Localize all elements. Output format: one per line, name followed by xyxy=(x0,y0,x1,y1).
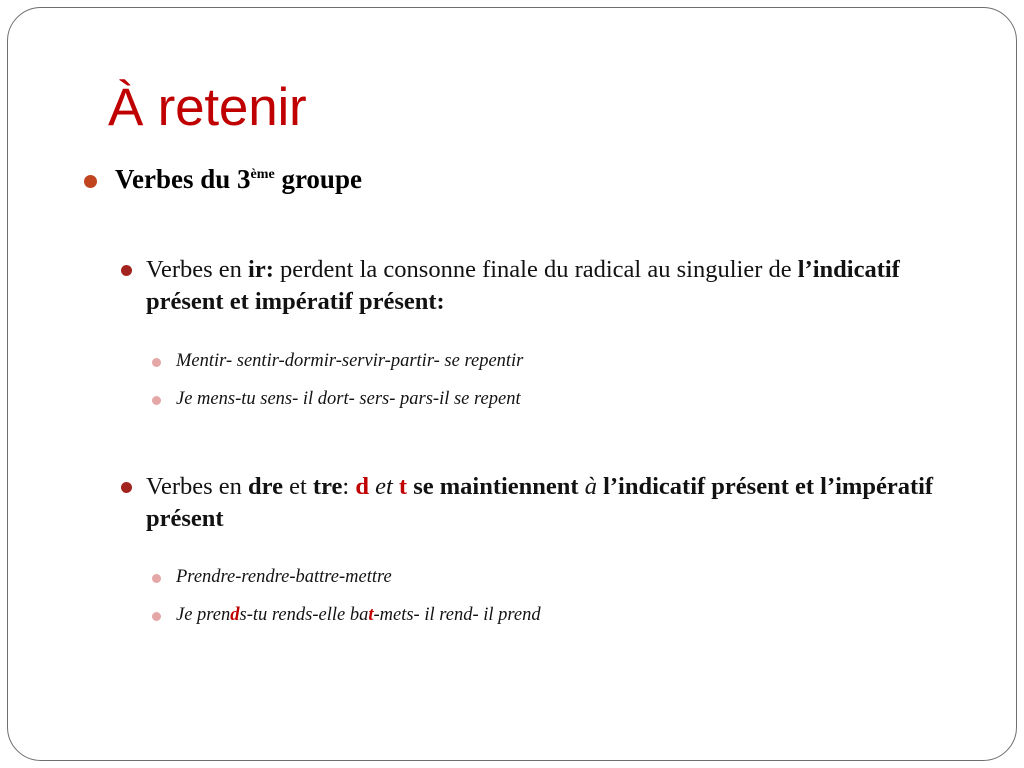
dretre-red-letter-d: d xyxy=(355,473,369,500)
spacer xyxy=(0,319,1024,349)
dretre-part4: et xyxy=(369,473,399,500)
heading-text-after: groupe xyxy=(275,164,362,194)
dretre-keyword-dre: dre xyxy=(248,473,283,500)
bullet-text-verbes-en-ir: Verbes en ir: perdent la consonne finale… xyxy=(146,254,950,319)
spacer xyxy=(0,535,1024,565)
spacer xyxy=(0,196,1024,254)
bullet-text-level1: Verbes du 3ème groupe xyxy=(115,163,964,196)
bullet-marker-level3 xyxy=(152,396,161,405)
bullet-item-verbes-3eme-groupe: Verbes du 3ème groupe xyxy=(0,163,1024,196)
bullet-marker-level2 xyxy=(121,265,132,276)
plain-run: -mets- il rend- il prend xyxy=(373,605,540,625)
dretre-part3: : xyxy=(342,473,355,500)
ir-text-part2: perdent la consonne finale du radical au… xyxy=(274,256,798,283)
heading-text-before: Verbes du 3 xyxy=(115,164,251,194)
bullet-marker-level3 xyxy=(152,574,161,583)
ir-keyword: ir: xyxy=(248,256,274,283)
dretre-part2: et xyxy=(283,473,313,500)
bullet-item-verbes-en-ir: Verbes en ir: perdent la consonne finale… xyxy=(0,254,1024,319)
dretre-italic-a: à xyxy=(585,473,597,500)
highlighted-letter: d xyxy=(230,605,239,625)
example-text-dretre-conjugated: Je prends-tu rends-elle bat-mets- il ren… xyxy=(176,603,944,627)
bullet-text-verbes-en-dre-tre: Verbes en dre et tre: d et t se maintien… xyxy=(146,471,950,536)
plain-run: s-tu rends-elle ba xyxy=(240,605,369,625)
spacer xyxy=(0,441,1024,471)
spacer xyxy=(0,589,1024,603)
dretre-red-letter-t: t xyxy=(399,473,407,500)
heading-superscript: ème xyxy=(251,166,275,182)
bullet-marker-level3 xyxy=(152,612,161,621)
example-text-ir-conjugated: Je mens-tu sens- il dort- sers- pars-il … xyxy=(176,387,944,411)
slide-body: Verbes du 3ème groupe Verbes en ir: perd… xyxy=(0,163,1024,627)
spacer xyxy=(0,373,1024,387)
dretre-keyword-tre: tre xyxy=(313,473,342,500)
dretre-part1: Verbes en xyxy=(146,473,248,500)
example-text-dretre-infinitives: Prendre-rendre-battre-mettre xyxy=(176,565,944,589)
bullet-marker-level2 xyxy=(121,482,132,493)
bullet-marker-level1 xyxy=(84,175,97,188)
dretre-part5: se maintiennent xyxy=(407,473,585,500)
example-item-dretre-infinitives: Prendre-rendre-battre-mettre xyxy=(0,565,1024,589)
example-item-ir-infinitives: Mentir- sentir-dormir-servir-partir- se … xyxy=(0,349,1024,373)
spacer xyxy=(0,411,1024,441)
ir-text-part1: Verbes en xyxy=(146,256,248,283)
example-item-ir-conjugated: Je mens-tu sens- il dort- sers- pars-il … xyxy=(0,387,1024,411)
example-item-dretre-conjugated: Je prends-tu rends-elle bat-mets- il ren… xyxy=(0,603,1024,627)
example-text-ir-infinitives: Mentir- sentir-dormir-servir-partir- se … xyxy=(176,349,944,373)
slide: À retenir Verbes du 3ème groupe Verbes e… xyxy=(0,0,1024,768)
page-title: À retenir xyxy=(108,80,307,135)
bullet-item-verbes-en-dre-tre: Verbes en dre et tre: d et t se maintien… xyxy=(0,471,1024,536)
plain-run: Je pren xyxy=(176,605,230,625)
bullet-marker-level3 xyxy=(152,358,161,367)
